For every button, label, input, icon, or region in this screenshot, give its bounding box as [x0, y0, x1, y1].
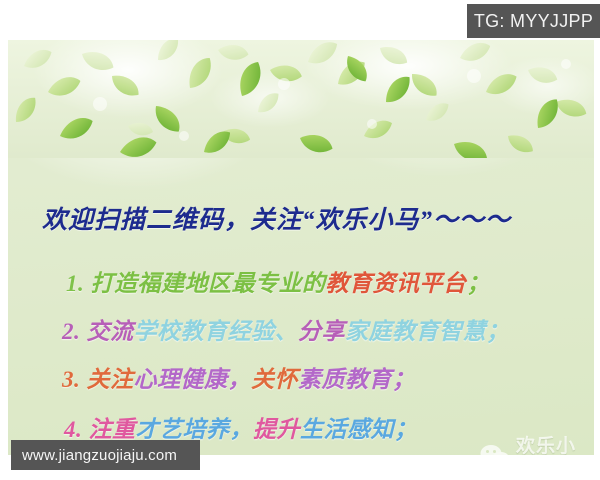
feature-line-segment: 教育资讯平台 [326, 271, 467, 296]
feature-line-segment: 才艺培养， [136, 417, 254, 442]
site-watermark: www.jiangzuojiaju.com [11, 440, 200, 470]
telegram-watermark: TG: MYYJJPP [467, 4, 600, 38]
feature-line-segment: 打造福建地区最专业的 [84, 271, 325, 296]
poster-headline: 欢迎扫描二维码，关注“欢乐小马”～～～ [42, 200, 511, 236]
wechat-account-name: 欢乐小马 [516, 431, 594, 455]
feature-line-segment: ； [467, 271, 491, 296]
feature-line-segment: 关怀 [251, 367, 298, 392]
feature-line-number: 4. [64, 417, 82, 442]
feature-line-segment: 素质教育 [298, 367, 392, 392]
leaves-illustration [8, 40, 594, 158]
promo-poster: 欢迎扫描二维码，关注“欢乐小马”～～～ 1. 打造福建地区最专业的教育资讯平台；… [8, 40, 594, 455]
falling-leaves-banner [8, 40, 594, 158]
feature-line-segment: 注重 [82, 417, 135, 442]
feature-line-segment: ； [392, 367, 416, 392]
feature-line-4: 4. 注重才艺培养，提升生活感知； [64, 410, 418, 444]
wechat-brand-mark: 欢乐小马 [480, 431, 594, 455]
feature-line-segment: 分享 [298, 319, 345, 344]
feature-line-number: 1. [66, 271, 84, 296]
feature-line-segment: 家庭教育智慧 [345, 319, 486, 344]
feature-line-number: 3. [62, 367, 80, 392]
feature-line-segment: 关注 [80, 367, 133, 392]
feature-line-segment: ； [394, 417, 418, 442]
wechat-icon [480, 444, 510, 456]
feature-line-segment: 学校教育经验、 [134, 319, 299, 344]
feature-line-3: 3. 关注心理健康，关怀素质教育； [62, 360, 416, 394]
feature-line-segment: 交流 [80, 319, 133, 344]
feature-line-1: 1. 打造福建地区最专业的教育资讯平台； [66, 264, 490, 298]
feature-line-2: 2. 交流学校教育经验、分享家庭教育智慧； [62, 312, 510, 346]
feature-line-segment: 提升 [253, 417, 300, 442]
feature-line-segment: ； [486, 319, 510, 344]
feature-line-segment: 生活感知 [300, 417, 394, 442]
feature-line-segment: 心理健康， [134, 367, 252, 392]
feature-line-number: 2. [62, 319, 80, 344]
